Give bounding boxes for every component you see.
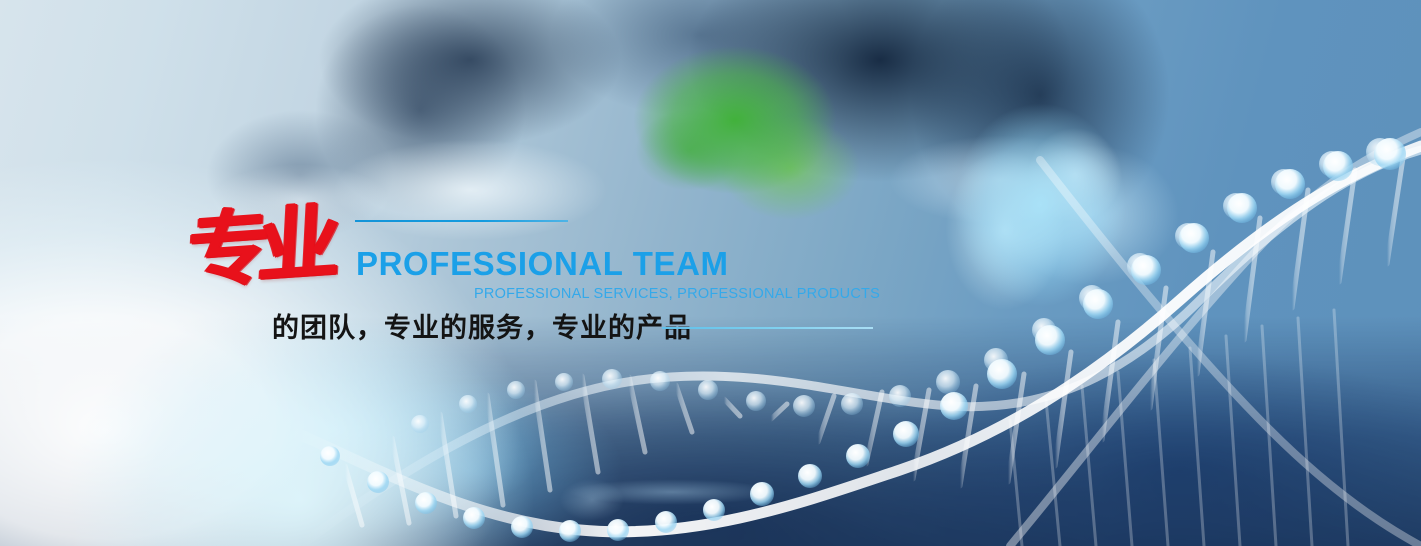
hero-banner: 专业 PROFESSIONAL TEAM PROFESSIONAL SERVIC… <box>0 0 1421 546</box>
banner-subtitle: PROFESSIONAL SERVICES, PROFESSIONAL PROD… <box>474 286 880 302</box>
banner-title: PROFESSIONAL TEAM <box>356 245 729 283</box>
banner-chinese-tagline: 的团队，专业的服务，专业的产品 <box>272 306 692 345</box>
